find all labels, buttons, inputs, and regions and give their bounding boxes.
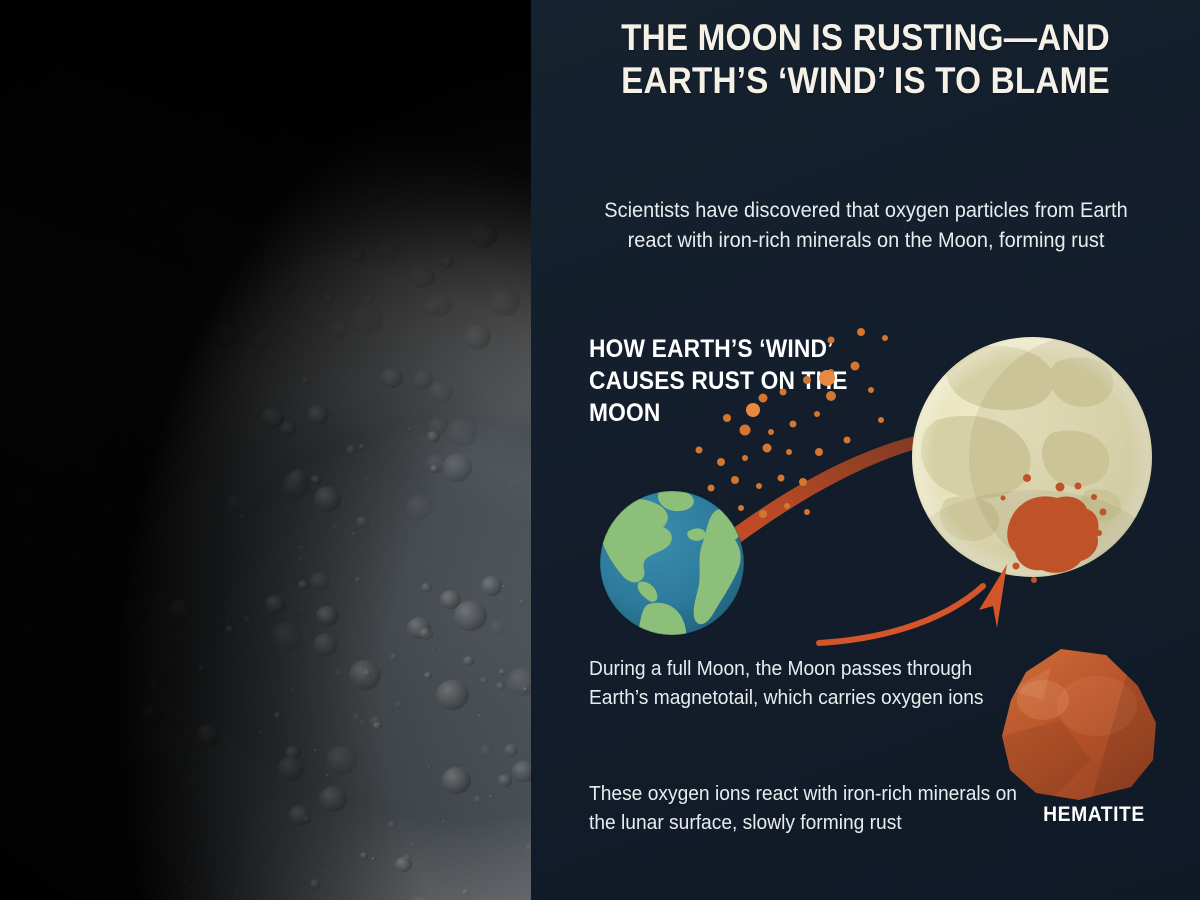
full-moon	[902, 335, 1200, 630]
oxygen-particle-large	[819, 370, 835, 386]
oxygen-particle	[868, 387, 874, 393]
oxygen-particle	[740, 425, 751, 436]
infographic-root: THE MOON IS RUSTING—AND EARTH’S ‘WIND’ I…	[0, 0, 1200, 900]
oxygen-particle-large	[746, 403, 760, 417]
oxygen-particle	[759, 394, 768, 403]
oxygen-particle	[708, 485, 715, 492]
oxygen-particle	[851, 362, 860, 371]
hematite-rock	[1002, 649, 1171, 800]
oxygen-particle	[804, 509, 810, 515]
oxygen-particle	[790, 421, 797, 428]
earth-moon-diagram	[531, 0, 1200, 900]
oxygen-particle	[826, 391, 836, 401]
oxygen-particle	[882, 335, 888, 341]
oxygen-particle	[717, 458, 725, 466]
oxygen-particle	[878, 417, 884, 423]
oxygen-particle	[857, 328, 865, 336]
oxygen-particle	[778, 475, 785, 482]
oxygen-particle	[786, 449, 792, 455]
body-paragraph-2: These oxygen ions react with iron-rich m…	[589, 780, 1021, 838]
oxygen-particle	[799, 478, 807, 486]
oxygen-particle	[763, 444, 772, 453]
oxygen-particle	[731, 476, 739, 484]
oxygen-particle	[780, 389, 787, 396]
body-paragraph-1: During a full Moon, the Moon passes thro…	[589, 655, 1021, 713]
oxygen-particle	[803, 376, 811, 384]
hematite-caption: HEMATITE	[1007, 803, 1182, 827]
oxygen-particle	[738, 505, 744, 511]
oxygen-particle	[784, 503, 790, 509]
oxygen-particle	[723, 414, 731, 422]
rust-pointer-arrow	[819, 564, 1007, 643]
oxygen-particle	[696, 447, 703, 454]
oxygen-particle	[768, 429, 774, 435]
oxygen-particle	[756, 483, 762, 489]
oxygen-particle	[759, 510, 767, 518]
photo-vignette	[0, 0, 531, 900]
lunar-surface-photo	[0, 0, 531, 900]
oxygen-particle	[815, 448, 823, 456]
oxygen-particle	[742, 455, 748, 461]
oxygen-particle	[844, 437, 851, 444]
info-panel: THE MOON IS RUSTING—AND EARTH’S ‘WIND’ I…	[531, 0, 1200, 900]
oxygen-particle	[828, 337, 835, 344]
oxygen-particle	[814, 411, 820, 417]
